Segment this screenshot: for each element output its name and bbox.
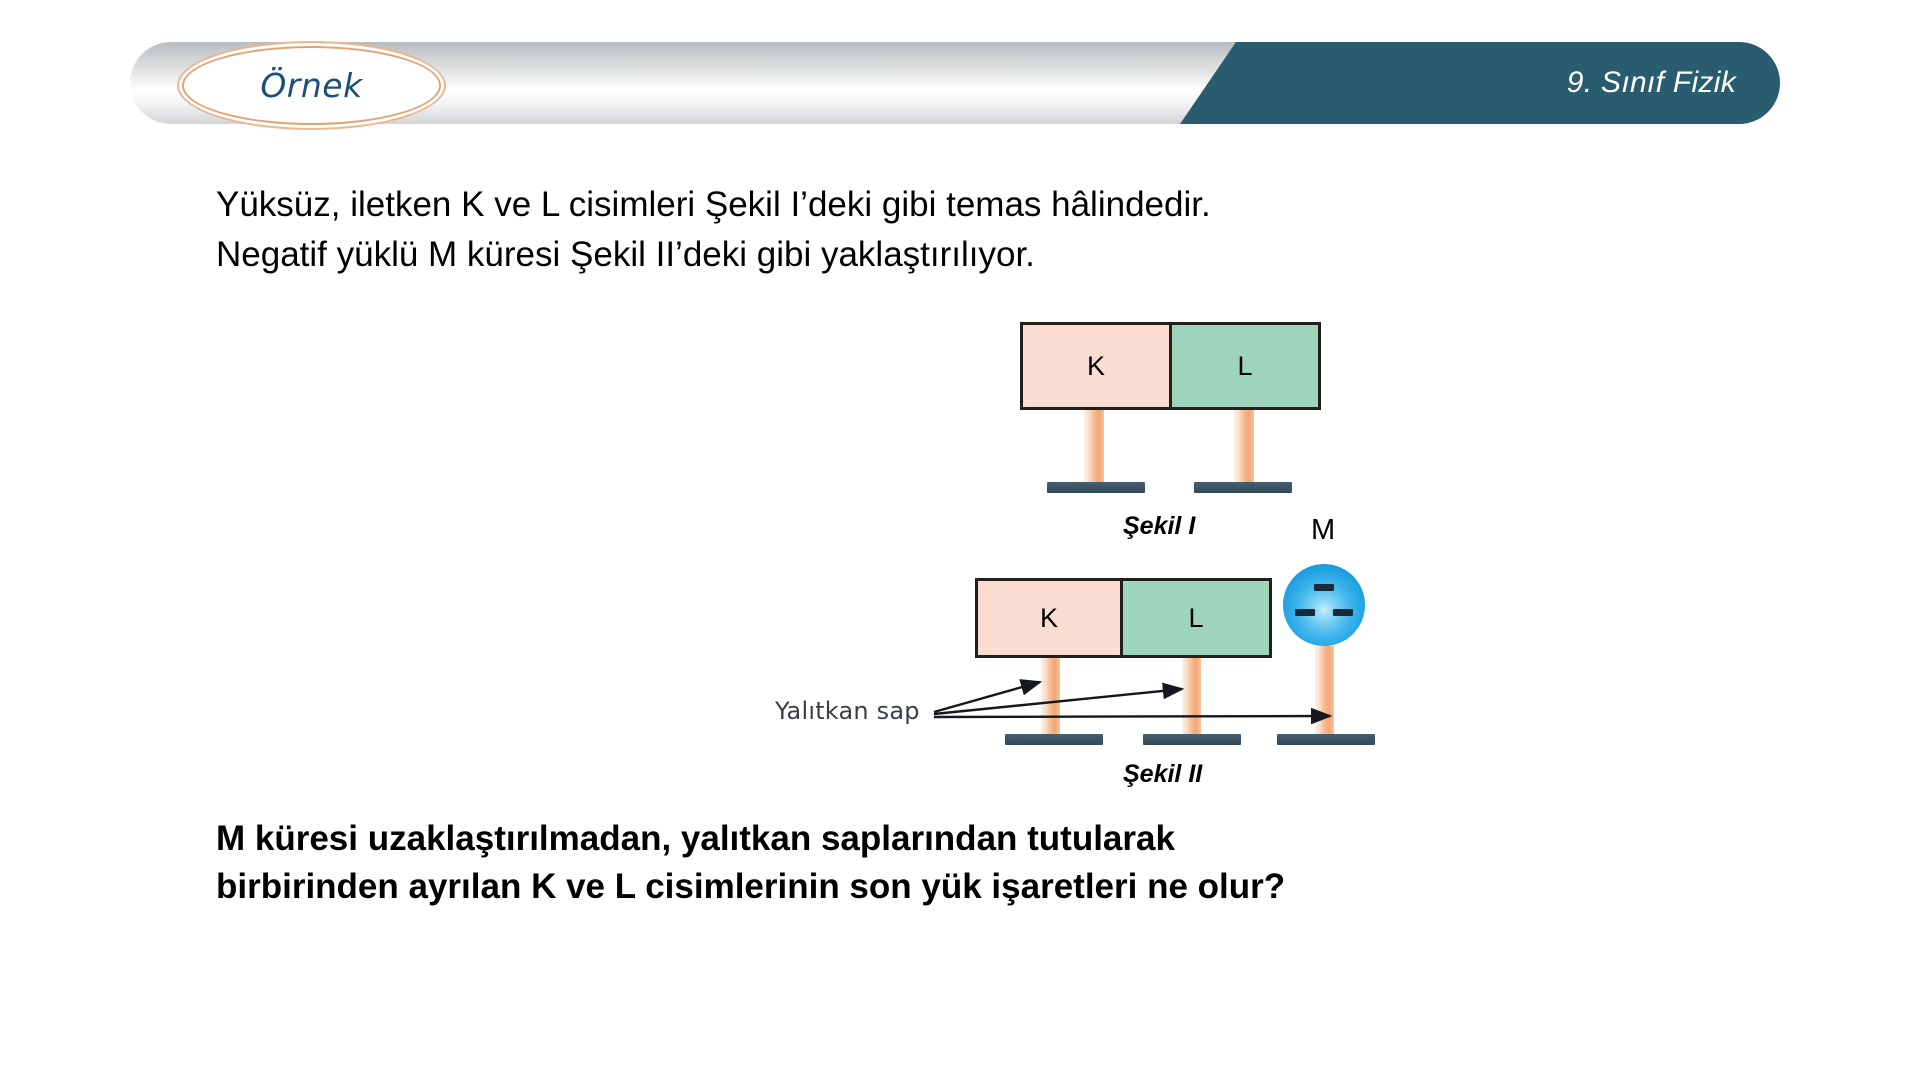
figure-two-base-m — [1277, 734, 1375, 745]
figure-one-stem-l — [1234, 410, 1254, 488]
figure-one-base-l — [1194, 482, 1292, 493]
ornek-badge: Örnek — [182, 46, 441, 125]
figure-one-block-l-label: L — [1237, 351, 1252, 382]
figure-two-block-k-label: K — [1040, 603, 1058, 634]
figure-two-stem-k — [1041, 658, 1060, 738]
intro-line-1: Yüksüz, iletken K ve L cisimleri Şekil I… — [216, 180, 1636, 230]
ornek-badge-label: Örnek — [260, 66, 362, 105]
figure-one-block-k: K — [1020, 322, 1172, 410]
figure-two-base-k — [1005, 734, 1103, 745]
charge-minus-icon — [1295, 609, 1315, 616]
figure-two: K L M — [975, 578, 1395, 758]
figure-one-caption: Şekil I — [1123, 512, 1195, 541]
yalitkan-sap-label: Yalıtkan sap — [775, 697, 920, 725]
sphere-m-label: M — [1311, 514, 1335, 547]
course-title: 9. Sınıf Fizik — [1567, 66, 1736, 100]
figure-one: K L — [1020, 322, 1360, 502]
figure-one-block-l: L — [1169, 322, 1321, 410]
figure-one-base-k — [1047, 482, 1145, 493]
figure-two-stem-m — [1315, 646, 1334, 738]
question-line-1: M küresi uzaklaştırılmadan, yalıtkan sap… — [216, 815, 1716, 863]
figure-two-base-l — [1143, 734, 1241, 745]
figure-two-block-l-label: L — [1188, 603, 1203, 634]
figure-two-block-l: L — [1120, 578, 1272, 658]
figure-one-block-k-label: K — [1087, 351, 1105, 382]
figure-two-caption: Şekil II — [1123, 760, 1202, 789]
charge-minus-icon — [1333, 609, 1353, 616]
intro-paragraph: Yüksüz, iletken K ve L cisimleri Şekil I… — [216, 180, 1636, 279]
intro-line-2: Negatif yüklü M küresi Şekil II’deki gib… — [216, 230, 1636, 280]
figure-two-stem-l — [1182, 658, 1201, 738]
figure-two-block-k: K — [975, 578, 1123, 658]
sphere-m — [1283, 564, 1365, 646]
question-line-2: birbirinden ayrılan K ve L cisimlerinin … — [216, 863, 1716, 911]
charge-minus-icon — [1314, 584, 1334, 591]
figure-one-stem-k — [1084, 410, 1104, 488]
question-paragraph: M küresi uzaklaştırılmadan, yalıtkan sap… — [216, 815, 1716, 912]
